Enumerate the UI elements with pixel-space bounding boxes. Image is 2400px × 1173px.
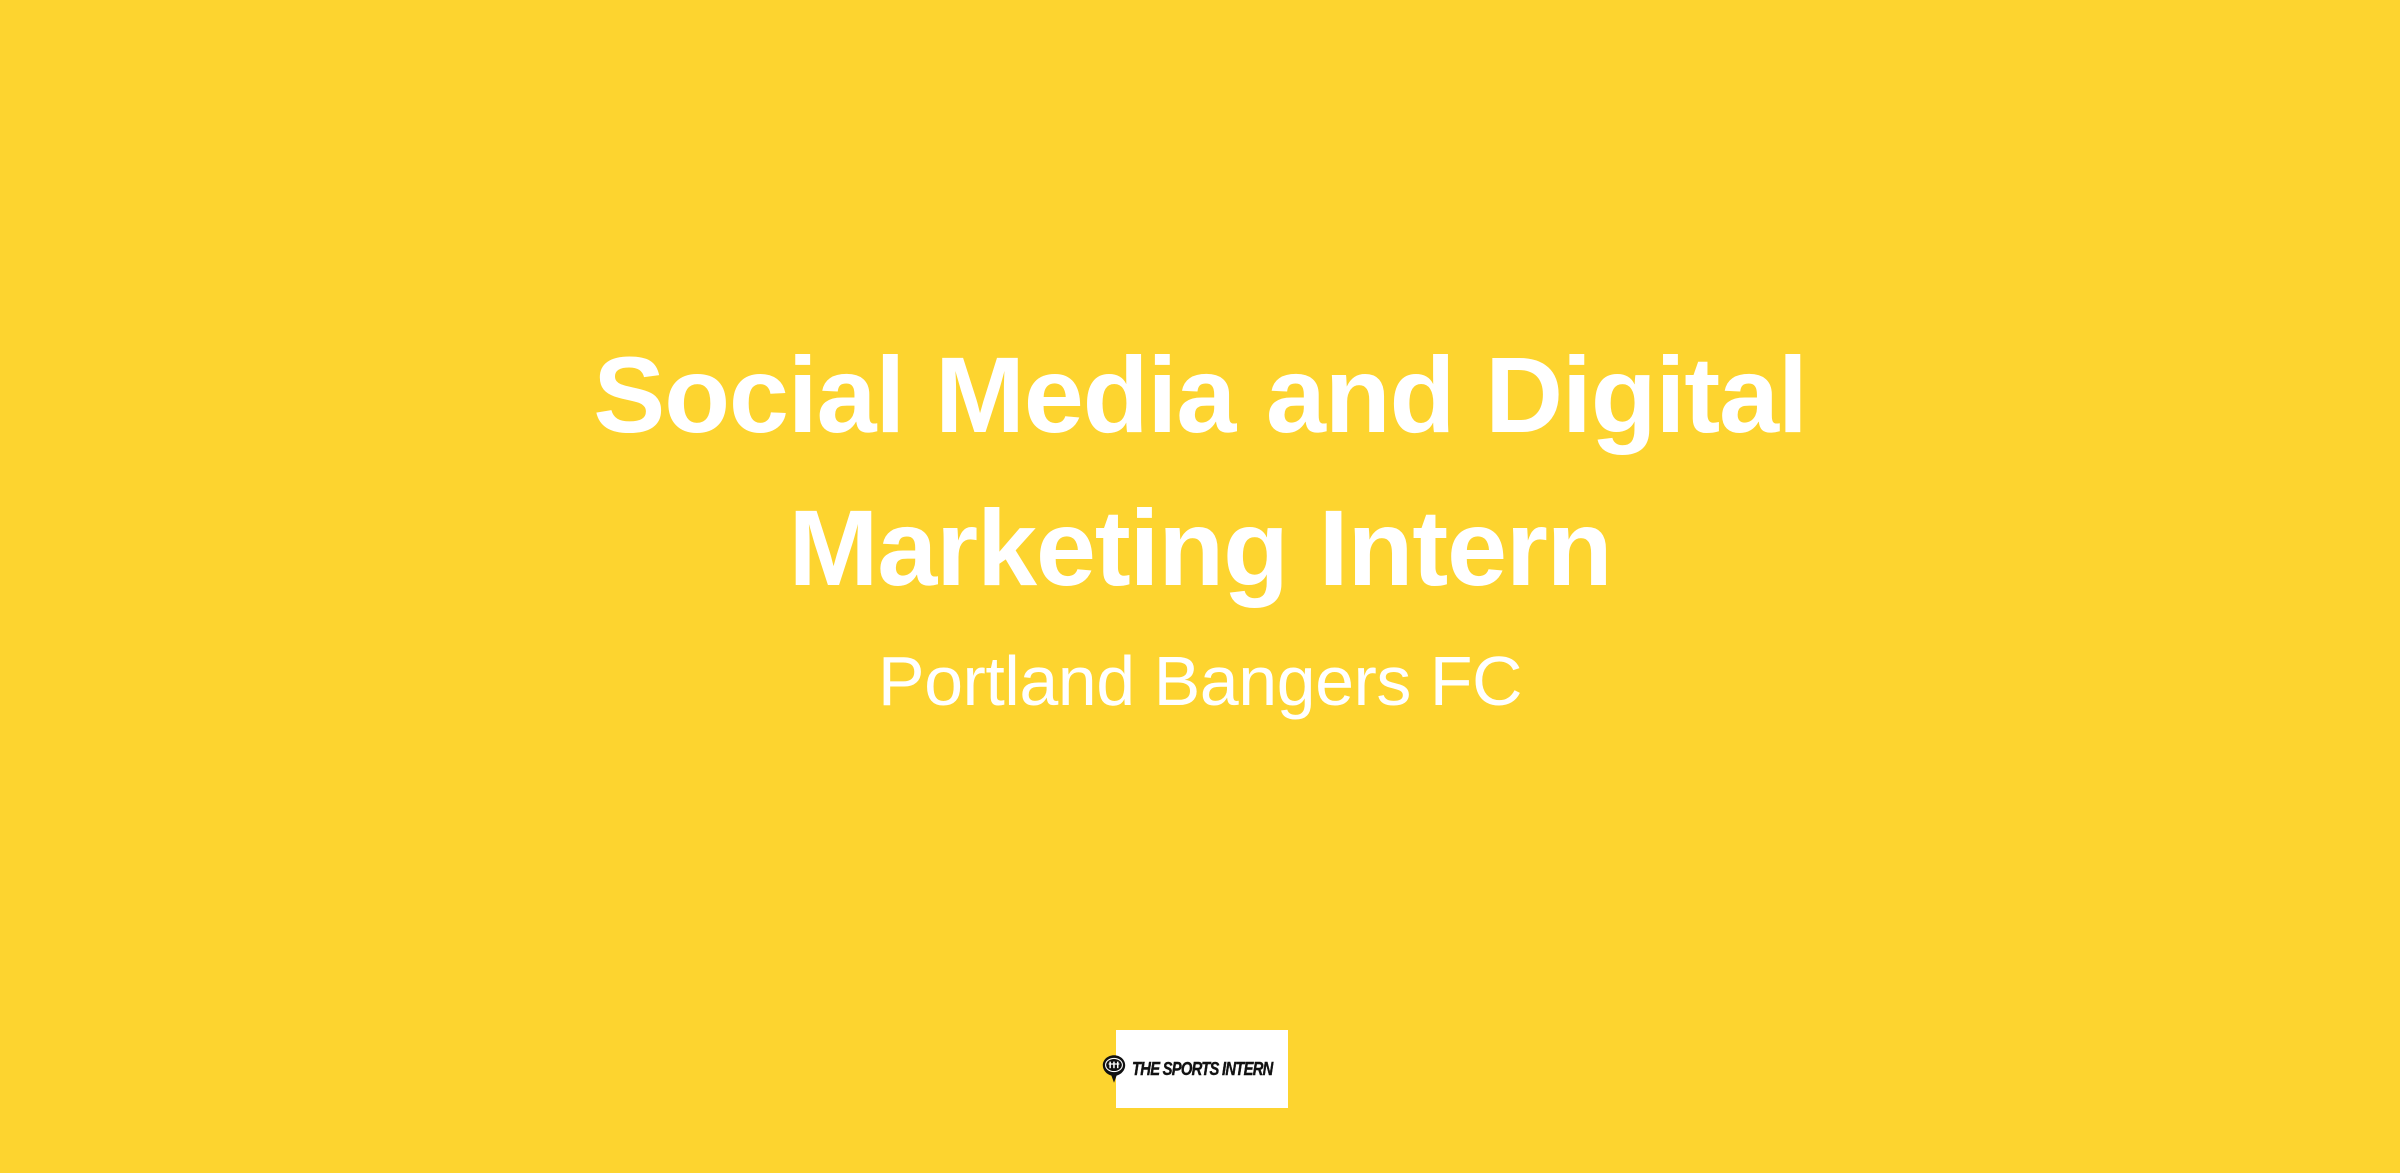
sports-badge-icon: [1101, 1054, 1127, 1084]
brand-logo: THE SPORTS INTERN: [1116, 1030, 1288, 1108]
hero-section: Social Media and Digital Marketing Inter…: [0, 0, 2400, 1020]
page-title: Social Media and Digital Marketing Inter…: [460, 318, 1940, 625]
organization-name: Portland Bangers FC: [878, 625, 1522, 723]
job-posting-slide: Social Media and Digital Marketing Inter…: [0, 0, 2400, 1173]
brand-wordmark: THE SPORTS INTERN: [1132, 1060, 1273, 1078]
